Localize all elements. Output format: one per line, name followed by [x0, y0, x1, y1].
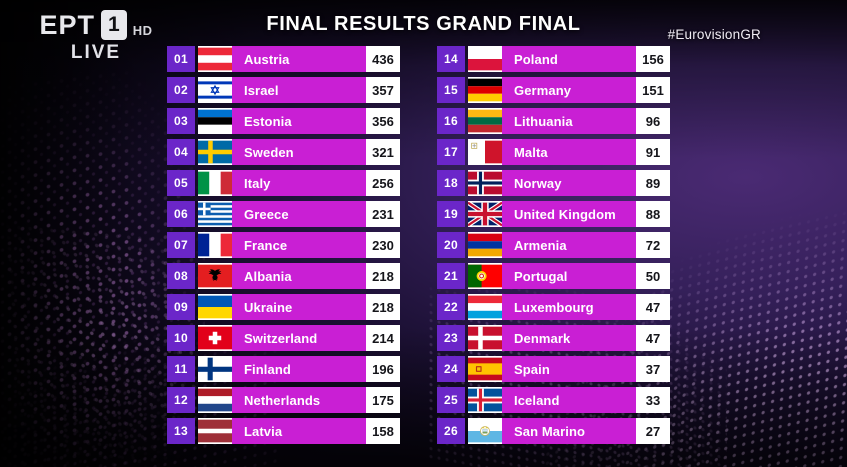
flag-ukraine-icon	[198, 294, 232, 320]
flag-israel-icon	[198, 77, 232, 103]
rank-badge: 04	[167, 139, 195, 165]
points-value: 231	[366, 201, 400, 227]
result-row: 01Austria436	[167, 46, 400, 72]
points-value: 47	[636, 294, 670, 320]
flag-united-kingdom-icon	[468, 201, 502, 227]
rank-badge: 01	[167, 46, 195, 72]
result-row: 16Lithuania96	[437, 108, 670, 134]
country-name: Greece	[232, 201, 366, 227]
points-value: 50	[636, 263, 670, 289]
result-row: 10Switzerland214	[167, 325, 400, 351]
rank-badge: 09	[167, 294, 195, 320]
country-name: Finland	[232, 356, 366, 382]
country-name: Spain	[502, 356, 636, 382]
flag-austria-icon	[198, 46, 232, 72]
country-name: Luxembourg	[502, 294, 636, 320]
flag-san-marino-icon	[468, 418, 502, 444]
country-name: Israel	[232, 77, 366, 103]
result-row: 09Ukraine218	[167, 294, 400, 320]
country-name: Ukraine	[232, 294, 366, 320]
result-row: 14Poland156	[437, 46, 670, 72]
rank-badge: 14	[437, 46, 465, 72]
result-row: 15Germany151	[437, 77, 670, 103]
rank-badge: 18	[437, 170, 465, 196]
rank-badge: 20	[437, 232, 465, 258]
country-name: Netherlands	[232, 387, 366, 413]
rank-badge: 10	[167, 325, 195, 351]
rank-badge: 15	[437, 77, 465, 103]
points-value: 175	[366, 387, 400, 413]
rank-badge: 19	[437, 201, 465, 227]
country-name: Malta	[502, 139, 636, 165]
flag-armenia-icon	[468, 232, 502, 258]
flag-portugal-icon	[468, 263, 502, 289]
broadcast-scoreboard: ΕΡΤ 1 HD LIVE FINAL RESULTS GRAND FINAL …	[0, 0, 847, 467]
flag-malta-icon	[468, 139, 502, 165]
result-row: 05Italy256	[167, 170, 400, 196]
flag-luxembourg-icon	[468, 294, 502, 320]
result-row: 03Estonia356	[167, 108, 400, 134]
points-value: 321	[366, 139, 400, 165]
country-name: Switzerland	[232, 325, 366, 351]
flag-netherlands-icon	[198, 387, 232, 413]
rank-badge: 13	[167, 418, 195, 444]
rank-badge: 21	[437, 263, 465, 289]
country-name: Portugal	[502, 263, 636, 289]
points-value: 158	[366, 418, 400, 444]
flag-germany-icon	[468, 77, 502, 103]
result-row: 19United Kingdom88	[437, 201, 670, 227]
rank-badge: 24	[437, 356, 465, 382]
flag-poland-icon	[468, 46, 502, 72]
country-name: Latvia	[232, 418, 366, 444]
points-value: 218	[366, 294, 400, 320]
flag-france-icon	[198, 232, 232, 258]
results-column-right: 14Poland15615Germany15116Lithuania9617Ma…	[437, 46, 670, 449]
result-row: 26San Marino27	[437, 418, 670, 444]
points-value: 47	[636, 325, 670, 351]
country-name: United Kingdom	[502, 201, 636, 227]
points-value: 91	[636, 139, 670, 165]
points-value: 196	[366, 356, 400, 382]
rank-badge: 23	[437, 325, 465, 351]
rank-badge: 17	[437, 139, 465, 165]
result-row: 12Netherlands175	[167, 387, 400, 413]
flag-albania-icon	[198, 263, 232, 289]
rank-badge: 03	[167, 108, 195, 134]
flag-italy-icon	[198, 170, 232, 196]
rank-badge: 12	[167, 387, 195, 413]
country-name: Lithuania	[502, 108, 636, 134]
flag-greece-icon	[198, 201, 232, 227]
flag-sweden-icon	[198, 139, 232, 165]
results-column-left: 01Austria43602Israel35703Estonia35604Swe…	[167, 46, 400, 449]
flag-lithuania-icon	[468, 108, 502, 134]
rank-badge: 16	[437, 108, 465, 134]
rank-badge: 02	[167, 77, 195, 103]
result-row: 06Greece231	[167, 201, 400, 227]
flag-norway-icon	[468, 170, 502, 196]
result-row: 21Portugal50	[437, 263, 670, 289]
flag-latvia-icon	[198, 418, 232, 444]
country-name: Austria	[232, 46, 366, 72]
country-name: Estonia	[232, 108, 366, 134]
hashtag-label: #EurovisionGR	[668, 27, 761, 42]
result-row: 24Spain37	[437, 356, 670, 382]
flag-denmark-icon	[468, 325, 502, 351]
rank-badge: 07	[167, 232, 195, 258]
flag-spain-icon	[468, 356, 502, 382]
points-value: 151	[636, 77, 670, 103]
points-value: 230	[366, 232, 400, 258]
country-name: Poland	[502, 46, 636, 72]
country-name: Italy	[232, 170, 366, 196]
results-table: 01Austria43602Israel35703Estonia35604Swe…	[0, 46, 847, 456]
points-value: 89	[636, 170, 670, 196]
points-value: 214	[366, 325, 400, 351]
result-row: 17Malta91	[437, 139, 670, 165]
points-value: 357	[366, 77, 400, 103]
country-name: San Marino	[502, 418, 636, 444]
rank-badge: 11	[167, 356, 195, 382]
result-row: 18Norway89	[437, 170, 670, 196]
points-value: 37	[636, 356, 670, 382]
result-row: 07France230	[167, 232, 400, 258]
country-name: Iceland	[502, 387, 636, 413]
flag-estonia-icon	[198, 108, 232, 134]
country-name: Denmark	[502, 325, 636, 351]
flag-iceland-icon	[468, 387, 502, 413]
rank-badge: 25	[437, 387, 465, 413]
result-row: 25Iceland33	[437, 387, 670, 413]
points-value: 96	[636, 108, 670, 134]
country-name: Armenia	[502, 232, 636, 258]
points-value: 156	[636, 46, 670, 72]
rank-badge: 05	[167, 170, 195, 196]
rank-badge: 06	[167, 201, 195, 227]
flag-switzerland-icon	[198, 325, 232, 351]
country-name: Norway	[502, 170, 636, 196]
result-row: 02Israel357	[167, 77, 400, 103]
country-name: France	[232, 232, 366, 258]
points-value: 218	[366, 263, 400, 289]
result-row: 04Sweden321	[167, 139, 400, 165]
country-name: Sweden	[232, 139, 366, 165]
result-row: 11Finland196	[167, 356, 400, 382]
points-value: 256	[366, 170, 400, 196]
points-value: 33	[636, 387, 670, 413]
result-row: 20Armenia72	[437, 232, 670, 258]
rank-badge: 26	[437, 418, 465, 444]
points-value: 356	[366, 108, 400, 134]
result-row: 13Latvia158	[167, 418, 400, 444]
rank-badge: 22	[437, 294, 465, 320]
points-value: 436	[366, 46, 400, 72]
rank-badge: 08	[167, 263, 195, 289]
points-value: 88	[636, 201, 670, 227]
country-name: Germany	[502, 77, 636, 103]
points-value: 27	[636, 418, 670, 444]
country-name: Albania	[232, 263, 366, 289]
points-value: 72	[636, 232, 670, 258]
result-row: 23Denmark47	[437, 325, 670, 351]
flag-finland-icon	[198, 356, 232, 382]
result-row: 08Albania218	[167, 263, 400, 289]
result-row: 22Luxembourg47	[437, 294, 670, 320]
